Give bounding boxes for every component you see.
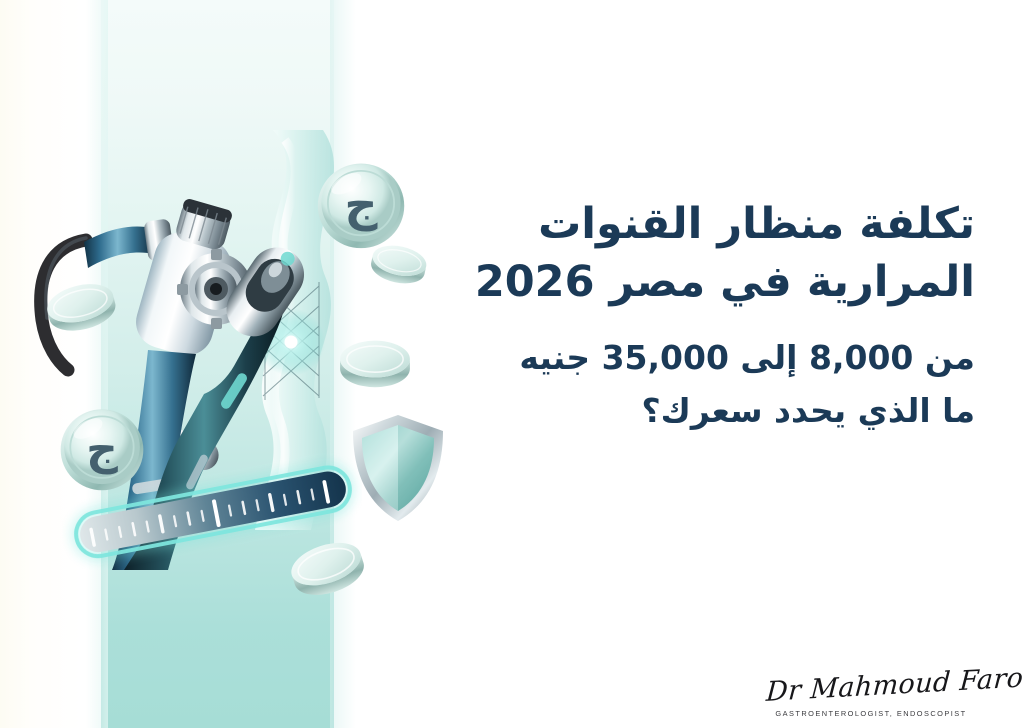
coin-disc-right [336,330,414,394]
headline-line-2: المرارية في مصر 2026 [455,254,975,312]
subtitle-question: ما الذي يحدد سعرك؟ [455,388,975,435]
shield-icon [348,412,448,524]
signature-role: GASTROENTEROLOGIST, ENDOSCOPIST [766,709,976,718]
signature-block: Dr Mahmoud Farouk GASTROENTEROLOGIST, EN… [766,671,976,718]
coin-disc-left [43,275,119,337]
illustration-stage: ج ج [0,0,470,728]
coin-disc-upper-right [368,238,430,288]
subtitle-price-range: من 8,000 إلى 35,000 جنيه [455,335,975,382]
poster-canvas: ج ج [0,0,1024,728]
headline-line-1: تكلفة منظار القنوات [455,196,975,254]
headline-block: تكلفة منظار القنوات المرارية في مصر 2026… [455,196,975,435]
gauge-track[interactable] [77,468,349,555]
coin-egp-top: ج [315,158,407,250]
price-gauge-slider[interactable] [62,450,362,570]
signature-name: Dr Mahmoud Farouk [765,665,977,708]
